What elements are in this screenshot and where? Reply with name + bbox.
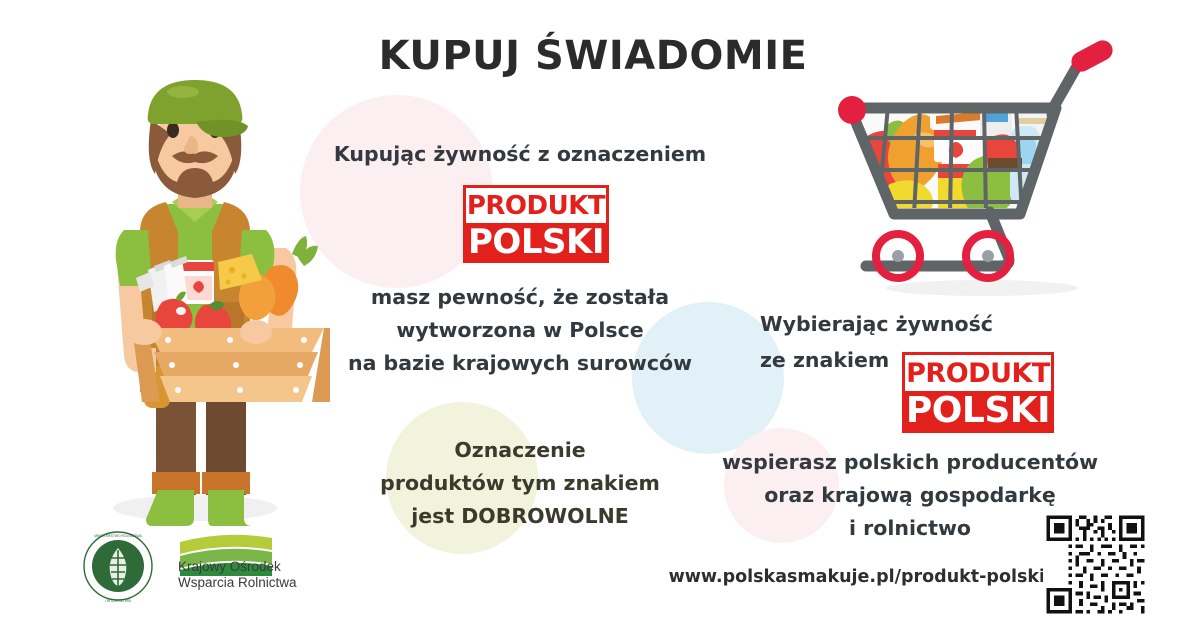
svg-text:MINISTERSTWO ROLNICTWA: MINISTERSTWO ROLNICTWA xyxy=(94,534,142,538)
crate-nail-2 xyxy=(227,337,233,343)
produkt-polski-badge-right-bottom: POLSKI xyxy=(905,391,1051,430)
crate-slat-top xyxy=(148,328,324,352)
cart-wheel-right-hub xyxy=(982,250,994,262)
produkt-polski-badge-middle-top: PRODUKT xyxy=(466,188,606,223)
crate-nail-8 xyxy=(237,387,243,393)
website-url[interactable]: www.polskasmakuje.pl/produkt-polski/ xyxy=(660,567,1060,587)
middle-body-text: masz pewność, że została wytworzona w Po… xyxy=(300,281,740,380)
cart-eggs-band xyxy=(1016,118,1050,124)
kowr-logo-line-1: Krajowy Ośrodek xyxy=(178,559,297,575)
right-body-line-1: wspierasz polskich producentów xyxy=(700,446,1120,479)
middle-body-line-1: masz pewność, że została xyxy=(300,281,740,314)
produkt-polski-badge-right-top: PRODUKT xyxy=(905,355,1051,391)
middle-intro-line-1: Kupując żywność z oznaczeniem xyxy=(300,139,740,169)
middle-body-line-2: wytworzona w Polsce xyxy=(300,314,740,347)
ministerstwo-rolnictwa-logo: MINISTERSTWO ROLNICTWA I ROZWOJU WSI xyxy=(84,532,152,603)
middle-footer-line-3: jest DOBROWOLNE xyxy=(300,500,740,533)
middle-intro-text: Kupując żywność z oznaczeniem xyxy=(300,139,740,169)
jar-lid xyxy=(182,262,214,271)
crate-nail-1 xyxy=(165,337,171,343)
produkt-polski-badge-middle: PRODUKT POLSKI xyxy=(463,185,609,263)
poster-canvas: KUPUJ ŚWIADOMIE Kupując żywność z oznacz… xyxy=(0,0,1200,630)
crate-nail-4 xyxy=(169,362,175,368)
produkt-polski-badge-right: PRODUKT POLSKI xyxy=(902,352,1054,433)
kowr-logo-line-2: Wsparcia Rolnictwa xyxy=(178,575,297,591)
right-intro-line-1: Wybierając żywność xyxy=(760,306,960,342)
boot-left xyxy=(146,490,194,526)
apple-shine xyxy=(176,307,186,315)
middle-body-line-3: na bazie krajowych surowców xyxy=(300,347,740,380)
farmer-shadow xyxy=(113,495,277,521)
page-title-text: KUPUJ ŚWIADOMIE xyxy=(379,33,808,79)
hand-right xyxy=(240,320,272,344)
hand-left xyxy=(126,319,162,345)
cheese-hole-2 xyxy=(241,273,246,278)
svg-text:I ROZWOJU WSI: I ROZWOJU WSI xyxy=(105,599,131,603)
cap-highlight xyxy=(167,86,199,98)
middle-footer-text: Oznaczenie produktów tym znakiem jest DO… xyxy=(300,434,740,533)
crate-nail-5 xyxy=(233,362,239,368)
crate-nail-7 xyxy=(175,387,181,393)
middle-footer-line-1: Oznaczenie xyxy=(300,434,740,467)
cart-rear-knob xyxy=(838,96,866,124)
produkt-polski-badge-middle-bottom: POLSKI xyxy=(466,223,606,260)
crate-slat-bottom xyxy=(160,376,312,402)
cart-wheel-left-hub xyxy=(892,250,904,262)
crate-nail-9 xyxy=(293,387,299,393)
kowr-logo-text: Krajowy Ośrodek Wsparcia Rolnictwa xyxy=(178,559,297,591)
middle-footer-line-2: produktów tym znakiem xyxy=(300,467,740,500)
cheese-hole-3 xyxy=(226,280,231,285)
right-body-line-2: oraz krajową gospodarkę xyxy=(700,479,1120,512)
qr-code[interactable] xyxy=(1043,512,1148,617)
farmer-with-crate-illustration xyxy=(60,80,330,530)
cart-chocolate xyxy=(988,158,1022,168)
eye-left xyxy=(167,122,179,138)
cap-crown xyxy=(148,80,243,124)
cart-shadow xyxy=(886,280,1078,296)
cheese-hole-1 xyxy=(229,267,235,273)
page-title: KUPUJ ŚWIADOMIE xyxy=(0,33,1200,79)
